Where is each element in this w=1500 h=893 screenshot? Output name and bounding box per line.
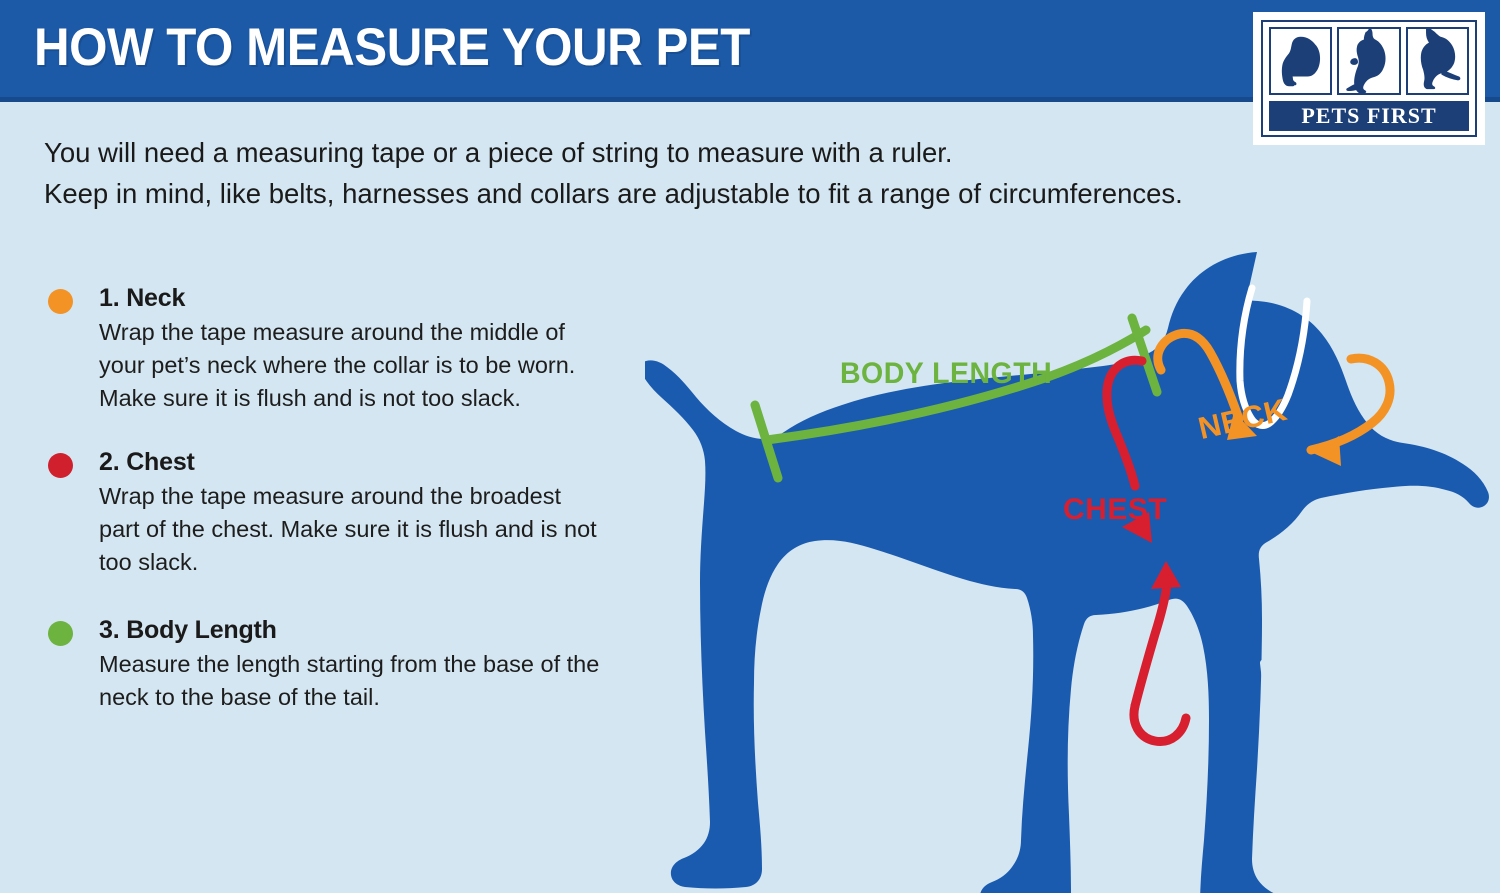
logo-panel-row: [1269, 27, 1469, 95]
intro-text: You will need a measuring tape or a piec…: [44, 132, 1334, 214]
step-line: Measure the length starting from the bas…: [99, 648, 684, 681]
step-line: part of the chest. Make sure it is flush…: [99, 513, 684, 546]
step-title: 1. Neck: [99, 282, 684, 314]
infographic-page: HOW TO MEASURE YOUR PET: [0, 0, 1500, 893]
dog-front-leg-line: [1264, 663, 1268, 755]
logo-frame: PETS FIRST: [1261, 20, 1477, 137]
intro-line-1: You will need a measuring tape or a piec…: [44, 132, 1334, 173]
step-line: Make sure it is flush and is not too sla…: [99, 382, 684, 415]
step-body: 3. Body Length Measure the length starti…: [44, 614, 684, 714]
page-title: HOW TO MEASURE YOUR PET: [34, 17, 750, 78]
measurement-steps-list: 1. Neck Wrap the tape measure around the…: [44, 282, 684, 745]
bullet-dot-orange: [48, 289, 73, 314]
step-line: Wrap the tape measure around the middle …: [99, 316, 684, 349]
bullet-dot-red: [48, 453, 73, 478]
dog-sitting-paw-up-silhouette-icon: [1337, 27, 1400, 95]
step-line: too slack.: [99, 546, 684, 579]
dog-lying-silhouette-icon: [1269, 27, 1332, 95]
dog-sitting-silhouette-icon: [1406, 27, 1469, 95]
dog-measurement-diagram: BODY LENGTH NECK CHEST: [645, 240, 1500, 893]
logo-brand-name: PETS FIRST: [1269, 101, 1469, 131]
step-line: Wrap the tape measure around the broades…: [99, 480, 684, 513]
label-chest: CHEST: [1063, 493, 1167, 527]
step-line: your pet’s neck where the collar is to b…: [99, 349, 684, 382]
step-item-neck: 1. Neck Wrap the tape measure around the…: [44, 282, 684, 415]
brand-logo: PETS FIRST: [1253, 12, 1485, 145]
step-title: 3. Body Length: [99, 614, 684, 646]
step-line: neck to the base of the tail.: [99, 681, 684, 714]
step-body: 2. Chest Wrap the tape measure around th…: [44, 446, 684, 579]
step-item-chest: 2. Chest Wrap the tape measure around th…: [44, 446, 684, 579]
step-description: Measure the length starting from the bas…: [99, 648, 684, 714]
step-item-body-length: 3. Body Length Measure the length starti…: [44, 614, 684, 714]
step-body: 1. Neck Wrap the tape measure around the…: [44, 282, 684, 415]
bullet-dot-green: [48, 621, 73, 646]
label-body-length: BODY LENGTH: [840, 357, 1052, 391]
step-description: Wrap the tape measure around the middle …: [99, 316, 684, 415]
intro-line-2: Keep in mind, like belts, harnesses and …: [44, 173, 1334, 214]
dog-silhouette: [645, 252, 1489, 893]
step-title: 2. Chest: [99, 446, 684, 478]
step-description: Wrap the tape measure around the broades…: [99, 480, 684, 579]
